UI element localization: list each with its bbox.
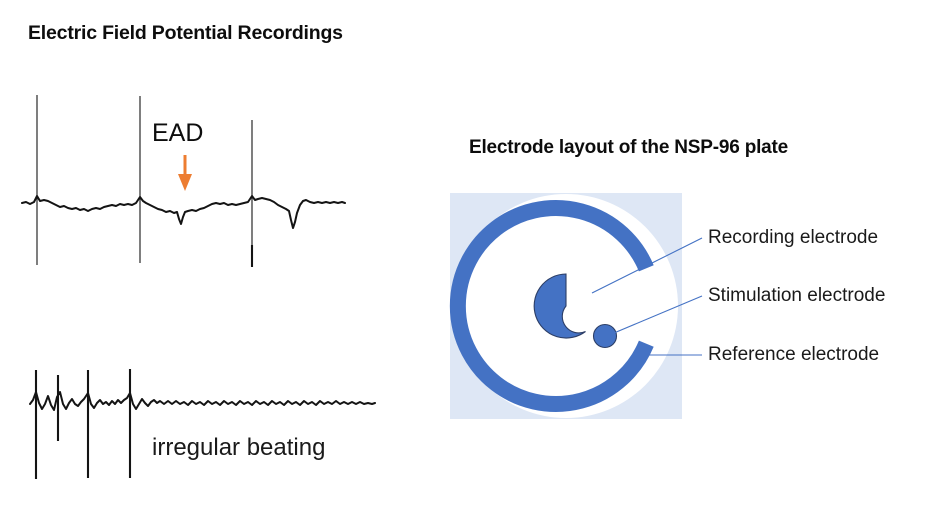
plate-well-halo: [454, 194, 678, 418]
arrow-head: [178, 174, 192, 191]
reference-electrode-ring: [458, 208, 646, 404]
label-reference-electrode: Reference electrode: [708, 344, 879, 366]
electrode-plate-diagram: [450, 193, 702, 419]
bottom-trace-group: [30, 369, 375, 479]
slide-canvas: Electric Field Potential Recordings EAD …: [0, 0, 934, 511]
figure-vector-layer: [0, 0, 934, 511]
recording-electrode: [534, 274, 585, 338]
bottom-trace-waveform: [30, 392, 375, 410]
stimulation-electrode: [594, 325, 617, 348]
electrode-layout-title: Electrode layout of the NSP-96 plate: [469, 137, 788, 159]
label-stimulation-electrode: Stimulation electrode: [708, 285, 885, 307]
leader-line-recording: [592, 238, 702, 293]
page-title: Electric Field Potential Recordings: [28, 22, 343, 45]
ead-annotation-label: EAD: [152, 119, 203, 148]
irregular-beating-label: irregular beating: [152, 434, 325, 462]
top-trace-waveform: [22, 196, 345, 228]
ead-down-arrow-icon: [178, 155, 192, 191]
leader-line-stimulation: [614, 296, 702, 333]
plate-background: [450, 193, 682, 419]
label-recording-electrode: Recording electrode: [708, 227, 878, 249]
